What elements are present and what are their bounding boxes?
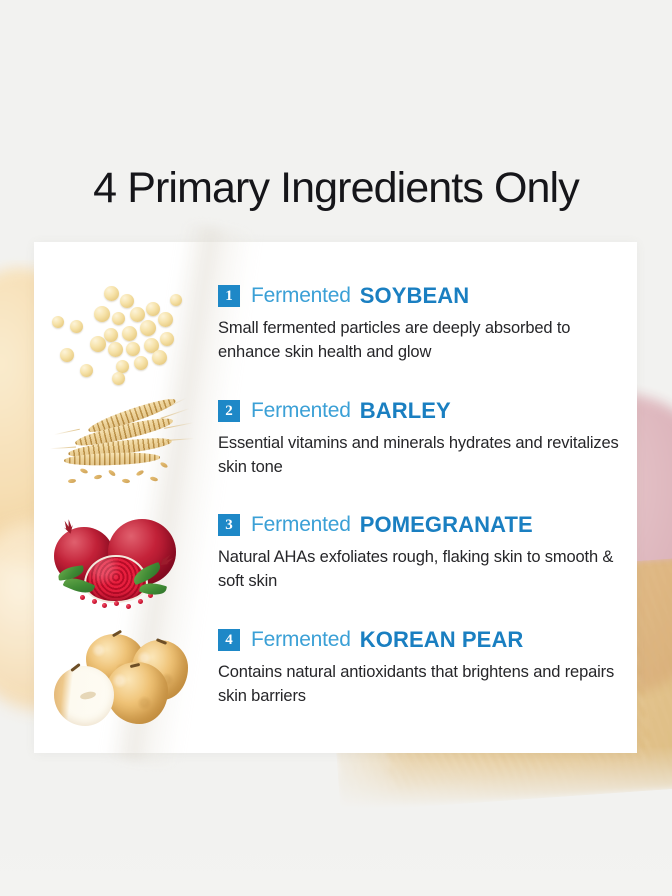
ingredient-description: Small fermented particles are deeply abs… bbox=[218, 317, 637, 364]
ingredient-headline-korean-pear: 4 Fermented KOREAN PEAR bbox=[218, 625, 637, 655]
ingredient-description: Contains natural antioxidants that brigh… bbox=[218, 661, 637, 708]
ingredient-name: KOREAN PEAR bbox=[360, 627, 524, 653]
ingredient-description: Natural AHAs exfoliates rough, flaking s… bbox=[218, 546, 637, 593]
background-top-fade bbox=[0, 0, 672, 260]
ingredient-prefix: Fermented bbox=[251, 513, 351, 537]
ingredient-row-barley: 2 Fermented BARLEY Essential vitamins an… bbox=[34, 391, 637, 506]
ingredient-headline-pomegranate: 3 Fermented POMEGRANATE bbox=[218, 510, 637, 540]
ingredient-prefix: Fermented bbox=[251, 284, 351, 308]
ingredient-prefix: Fermented bbox=[251, 628, 351, 652]
ingredient-headline-soybean: 1 Fermented SOYBEAN bbox=[218, 281, 637, 311]
ingredient-row-korean-pear: 4 Fermented KOREAN PEAR Contains natural… bbox=[34, 620, 637, 735]
ingredient-number-badge: 4 bbox=[218, 629, 240, 651]
background-bottom-fade bbox=[0, 746, 672, 896]
page-title: 4 Primary Ingredients Only bbox=[0, 161, 672, 215]
ingredient-number-badge: 2 bbox=[218, 400, 240, 422]
pomegranate-photo bbox=[34, 505, 218, 620]
ingredient-name: BARLEY bbox=[360, 398, 451, 424]
ingredient-number-badge: 3 bbox=[218, 514, 240, 536]
ingredient-headline-barley: 2 Fermented BARLEY bbox=[218, 396, 637, 426]
ingredient-name: POMEGRANATE bbox=[360, 512, 533, 538]
ingredient-number-badge: 1 bbox=[218, 285, 240, 307]
ingredient-row-soybean: 1 Fermented SOYBEAN Small fermented part… bbox=[34, 276, 637, 391]
soybeans-photo bbox=[34, 276, 218, 391]
ingredient-description: Essential vitamins and minerals hydrates… bbox=[218, 432, 637, 479]
ingredient-card: 1 Fermented SOYBEAN Small fermented part… bbox=[34, 242, 637, 753]
ingredient-row-pomegranate: 3 Fermented POMEGRANATE Natural AHAs exf… bbox=[34, 505, 637, 620]
korean-pear-photo bbox=[34, 620, 218, 735]
ingredient-prefix: Fermented bbox=[251, 399, 351, 423]
ingredient-name: SOYBEAN bbox=[360, 283, 470, 309]
barley-photo bbox=[34, 391, 218, 506]
